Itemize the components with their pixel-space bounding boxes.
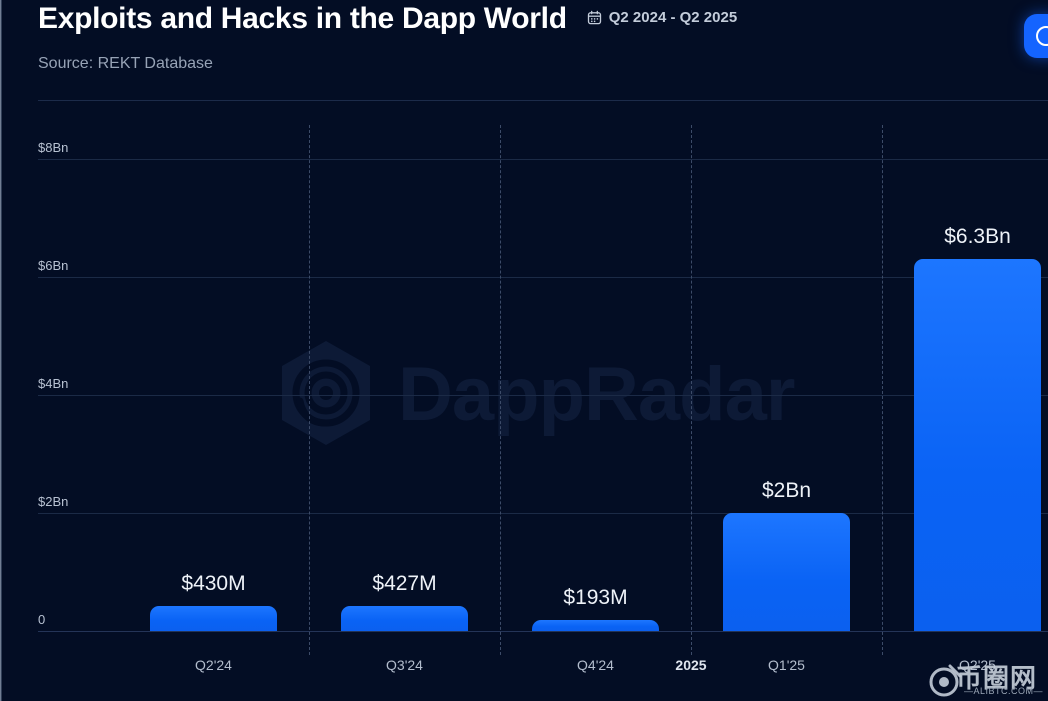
window-left-edge xyxy=(0,0,2,701)
x-axis-tick-q225: Q2'25 xyxy=(959,657,996,673)
chart-source-label: Source: REKT Database xyxy=(38,55,213,73)
plot-area: DappRadar 0$2Bn$4Bn$6Bn$8Bn $430M$427M$1… xyxy=(0,100,1048,701)
bar[interactable] xyxy=(532,620,659,631)
bar-value-label: $193M xyxy=(563,586,627,610)
x-axis-year-divider-label: 2025 xyxy=(675,657,706,673)
x-axis: Q2'24Q3'24Q4'24Q1'25Q2'252025 xyxy=(0,631,1048,701)
bar-value-label: $6.3Bn xyxy=(944,225,1011,249)
header-divider xyxy=(38,100,1048,101)
bar-value-label: $430M xyxy=(181,572,245,596)
bar-column[interactable]: $427M xyxy=(341,606,468,631)
x-axis-tick-q324: Q3'24 xyxy=(386,657,423,673)
bar-column[interactable]: $6.3Bn xyxy=(914,259,1041,631)
bar[interactable] xyxy=(914,259,1041,631)
x-axis-tick-q424: Q4'24 xyxy=(577,657,614,673)
chart-header: Exploits and Hacks in the Dapp World Q2 … xyxy=(0,0,1048,100)
bar-value-label: $427M xyxy=(372,572,436,596)
bar-column[interactable]: $430M xyxy=(150,606,277,631)
x-axis-tick-q125: Q1'25 xyxy=(768,657,805,673)
dappradar-logo-icon[interactable] xyxy=(1024,14,1048,58)
page-title: Exploits and Hacks in the Dapp World xyxy=(38,2,567,36)
bar-value-label: $2Bn xyxy=(762,479,811,503)
bar-column[interactable]: $193M xyxy=(532,620,659,631)
logo-ring xyxy=(1036,26,1048,46)
bar-column[interactable]: $2Bn xyxy=(723,513,850,631)
x-axis-tick-q224: Q2'24 xyxy=(195,657,232,673)
bar[interactable] xyxy=(723,513,850,631)
calendar-icon xyxy=(587,10,602,25)
chart-screenshot: Exploits and Hacks in the Dapp World Q2 … xyxy=(0,0,1048,701)
title-row: Exploits and Hacks in the Dapp World Q2 … xyxy=(38,2,737,36)
bar[interactable] xyxy=(341,606,468,631)
bar-series: $430M$427M$193M$2Bn$6.3Bn xyxy=(0,100,1048,701)
date-range-control[interactable]: Q2 2024 - Q2 2025 xyxy=(587,9,737,26)
bar[interactable] xyxy=(150,606,277,631)
date-range-label: Q2 2024 - Q2 2025 xyxy=(609,9,737,26)
